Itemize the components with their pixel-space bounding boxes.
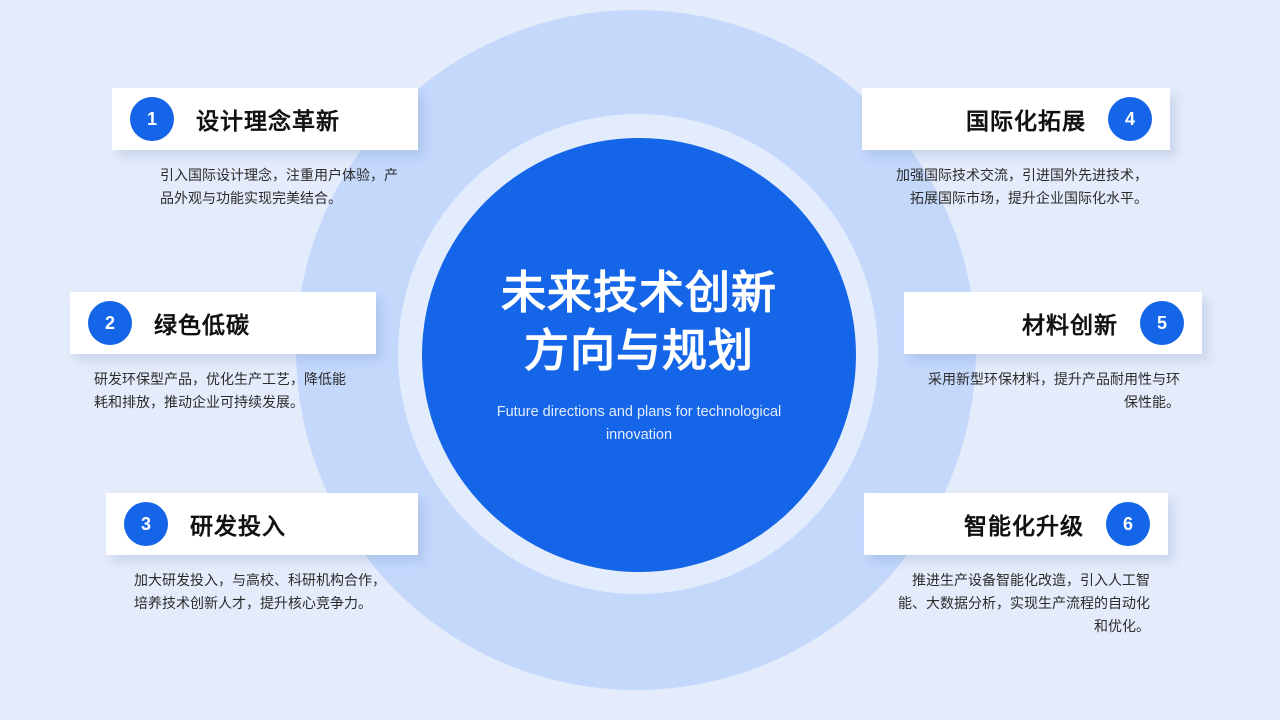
- number-badge-6: 6: [1106, 502, 1150, 546]
- feature-item-5[interactable]: 材料创新 5 采用新型环保材料，提升产品耐用性与环保性能。: [904, 292, 1202, 414]
- feature-card-5[interactable]: 材料创新 5: [904, 292, 1202, 354]
- feature-title-2: 绿色低碳: [154, 306, 250, 340]
- feature-item-6[interactable]: 智能化升级 6 推进生产设备智能化改造，引入人工智能、大数据分析，实现生产流程的…: [864, 493, 1168, 638]
- feature-description-5: 采用新型环保材料，提升产品耐用性与环保性能。: [910, 368, 1196, 414]
- feature-description-3: 加大研发投入，与高校、科研机构合作，培养技术创新人才，提升核心竞争力。: [118, 569, 408, 615]
- slide-canvas: 未来技术创新 方向与规划 Future directions and plans…: [0, 0, 1280, 720]
- number-badge-3: 3: [124, 502, 168, 546]
- feature-description-4: 加强国际技术交流，引进国外先进技术，拓展国际市场，提升企业国际化水平。: [872, 164, 1164, 210]
- feature-card-4[interactable]: 国际化拓展 4: [862, 88, 1170, 150]
- feature-description-6: 推进生产设备智能化改造，引入人工智能、大数据分析，实现生产流程的自动化和优化。: [872, 569, 1166, 638]
- feature-item-3[interactable]: 3 研发投入 加大研发投入，与高校、科研机构合作，培养技术创新人才，提升核心竞争…: [106, 493, 418, 615]
- number-badge-1: 1: [130, 97, 174, 141]
- page-subtitle: Future directions and plans for technolo…: [479, 401, 799, 446]
- feature-card-6[interactable]: 智能化升级 6: [864, 493, 1168, 555]
- number-badge-2: 2: [88, 301, 132, 345]
- page-title: 未来技术创新 方向与规划: [501, 264, 777, 379]
- feature-item-1[interactable]: 1 设计理念革新 引入国际设计理念，注重用户体验，产品外观与功能实现完美结合。: [112, 88, 418, 210]
- feature-description-2: 研发环保型产品，优化生产工艺，降低能耗和排放，推动企业可持续发展。: [78, 368, 364, 414]
- feature-title-5: 材料创新: [1022, 306, 1118, 340]
- feature-title-4: 国际化拓展: [966, 102, 1086, 136]
- feature-item-4[interactable]: 国际化拓展 4 加强国际技术交流，引进国外先进技术，拓展国际市场，提升企业国际化…: [862, 88, 1170, 210]
- feature-description-1: 引入国际设计理念，注重用户体验，产品外观与功能实现完美结合。: [144, 164, 416, 210]
- number-badge-5: 5: [1140, 301, 1184, 345]
- feature-title-1: 设计理念革新: [196, 102, 340, 136]
- number-badge-4: 4: [1108, 97, 1152, 141]
- feature-card-2[interactable]: 2 绿色低碳: [70, 292, 376, 354]
- center-hub: 未来技术创新 方向与规划 Future directions and plans…: [422, 138, 856, 572]
- feature-title-6: 智能化升级: [964, 507, 1084, 541]
- feature-card-1[interactable]: 1 设计理念革新: [112, 88, 418, 150]
- feature-item-2[interactable]: 2 绿色低碳 研发环保型产品，优化生产工艺，降低能耗和排放，推动企业可持续发展。: [70, 292, 376, 414]
- feature-card-3[interactable]: 3 研发投入: [106, 493, 418, 555]
- feature-title-3: 研发投入: [190, 507, 286, 541]
